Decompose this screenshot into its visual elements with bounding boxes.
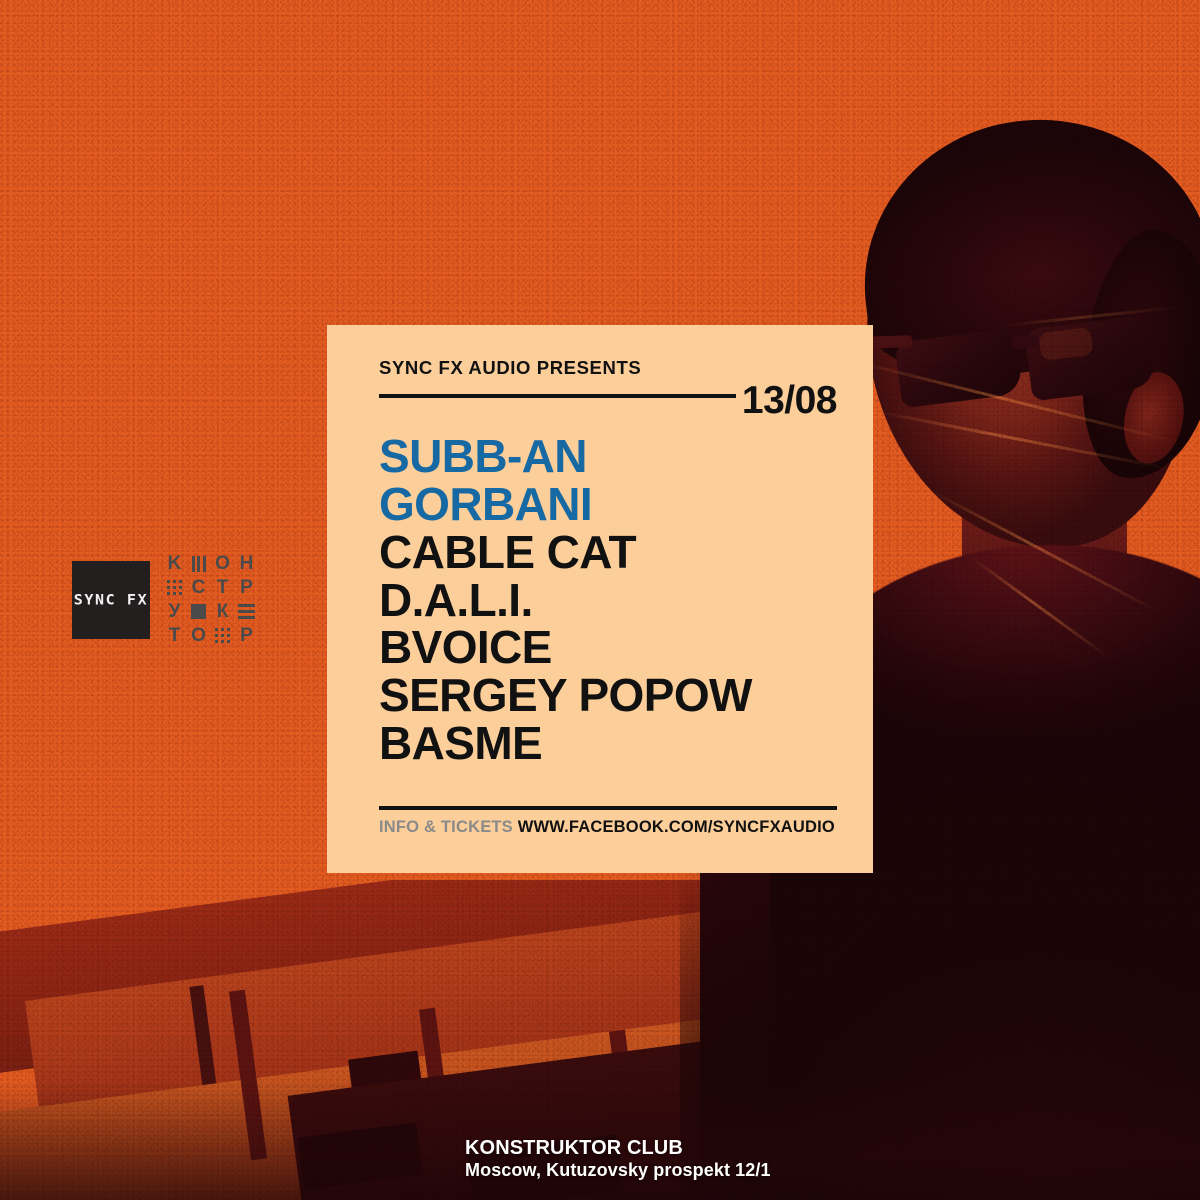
konstruktor-glyph-t2: Т bbox=[164, 625, 185, 646]
sync-fx-logo-text: SYNC FX bbox=[74, 591, 148, 608]
konstruktor-glyph-n1: Н bbox=[236, 553, 257, 574]
filled-square-icon bbox=[188, 601, 209, 622]
sync-fx-logo[interactable]: SYNC FX bbox=[72, 561, 150, 639]
tickets-url[interactable]: WWW.FACEBOOK.COM/SYNCFXAUDIO bbox=[518, 818, 835, 836]
venue-address: Moscow, Kutuzovsky prospekt 12/1 bbox=[465, 1160, 771, 1180]
konstruktor-glyph-u: У bbox=[164, 601, 185, 622]
konstruktor-glyph-s: С bbox=[188, 577, 209, 598]
lineup-item[interactable]: BVOICE bbox=[379, 624, 837, 672]
info-tickets-label: INFO & TICKETS bbox=[379, 818, 513, 836]
bars-vertical-icon bbox=[188, 553, 209, 574]
venue-block: KONSTRUKTOR CLUB Moscow, Kutuzovsky pros… bbox=[465, 1137, 771, 1180]
lineup-item[interactable]: SERGEY POPOW bbox=[379, 672, 837, 720]
event-poster: SYNC FX K О Н С Т Р У К bbox=[0, 0, 1200, 1200]
card-footer: INFO & TICKETS WWW.FACEBOOK.COM/SYNCFXAU… bbox=[379, 806, 837, 836]
konstruktor-glyph-r2: Р bbox=[236, 625, 257, 646]
event-date: 13/08 bbox=[742, 384, 837, 418]
dots-grid-icon-1 bbox=[164, 577, 185, 598]
dots-grid-icon-2 bbox=[212, 625, 233, 646]
card-header-rule-row: 13/08 bbox=[379, 384, 837, 416]
konstruktor-glyph-k1: K bbox=[164, 553, 185, 574]
card-header: SYNC FX AUDIO PRESENTS bbox=[379, 359, 837, 378]
konstruktor-glyph-r1: Р bbox=[236, 577, 257, 598]
lineup-item[interactable]: D.A.L.I. bbox=[379, 577, 837, 625]
footer-divider bbox=[379, 806, 837, 810]
lineup-item[interactable]: SUBB-AN bbox=[379, 433, 837, 481]
lineup-list: SUBB-AN GORBANI CABLE CAT D.A.L.I. BVOIC… bbox=[379, 433, 837, 768]
info-tickets-line: INFO & TICKETS WWW.FACEBOOK.COM/SYNCFXAU… bbox=[379, 819, 837, 836]
konstruktor-glyph-o2: О bbox=[188, 625, 209, 646]
lineup-item[interactable]: GORBANI bbox=[379, 481, 837, 529]
lineup-item[interactable]: BASME bbox=[379, 720, 837, 768]
konstruktor-glyph-o1: О bbox=[212, 553, 233, 574]
logo-row: SYNC FX K О Н С Т Р У К bbox=[72, 553, 257, 646]
konstruktor-logo[interactable]: K О Н С Т Р У К Т О bbox=[164, 553, 257, 646]
presents-label: SYNC FX AUDIO PRESENTS bbox=[379, 359, 641, 378]
header-divider bbox=[379, 394, 736, 398]
konstruktor-glyph-k2: К bbox=[212, 601, 233, 622]
konstruktor-glyph-t1: Т bbox=[212, 577, 233, 598]
lineup-item[interactable]: CABLE CAT bbox=[379, 529, 837, 577]
venue-name: KONSTRUKTOR CLUB bbox=[465, 1137, 771, 1159]
event-card: SYNC FX AUDIO PRESENTS 13/08 SUBB-AN GOR… bbox=[327, 325, 873, 873]
bars-horizontal-icon bbox=[236, 601, 257, 622]
